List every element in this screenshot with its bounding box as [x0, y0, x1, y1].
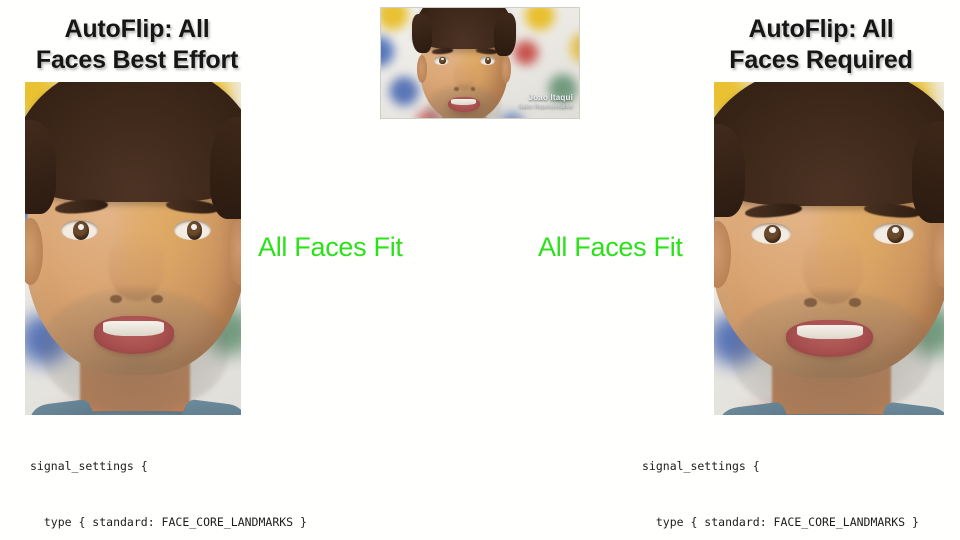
portrait-face: [714, 82, 944, 415]
mouth: [448, 97, 480, 113]
hair: [714, 82, 944, 206]
source-video-thumbnail: Joao Itaqui Sales Representative: [380, 7, 580, 119]
eye-left: [751, 223, 791, 243]
comparison-stage: AutoFlip: All Faces Best Effort: [0, 0, 960, 540]
verdict-label-best-effort: All Faces Fit: [258, 232, 403, 263]
autoflip-crop-required: [714, 82, 944, 415]
lower-third-caption: Joao Itaqui Sales Representative: [519, 93, 573, 111]
teeth: [103, 321, 164, 335]
eye-glint-left: [78, 224, 84, 231]
verdict-label-required: All Faces Fit: [538, 232, 683, 263]
eye-right: [480, 56, 495, 65]
config-block-best-effort: signal_settings { type { standard: FACE_…: [30, 420, 307, 540]
eye-glint-right: [892, 227, 899, 234]
config-line-type: type { standard: FACE_CORE_LANDMARKS }: [30, 513, 307, 532]
teeth: [451, 99, 475, 105]
hair: [414, 7, 514, 49]
config-line-type: type { standard: FACE_CORE_LANDMARKS }: [642, 513, 919, 532]
eye-left: [61, 220, 98, 240]
autoflip-crop-best-effort: [25, 82, 241, 415]
eye-left: [434, 56, 449, 65]
teeth: [797, 325, 863, 339]
portrait-face: [25, 82, 241, 415]
mouth: [94, 316, 174, 353]
portrait-face: [409, 7, 520, 119]
config-line-header: signal_settings {: [30, 457, 307, 476]
eye-right: [873, 223, 913, 243]
mouth: [786, 320, 873, 357]
ear-right: [501, 55, 511, 83]
caption-name: Joao Itaqui: [519, 93, 573, 103]
config-block-required: signal_settings { type { standard: FACE_…: [642, 420, 919, 540]
eye-glint-left: [441, 58, 444, 61]
caption-role: Sales Representative: [519, 103, 573, 111]
panel-title-required: AutoFlip: All Faces Required: [690, 14, 952, 76]
hair: [25, 82, 241, 202]
config-line-header: signal_settings {: [642, 457, 919, 476]
panel-title-best-effort: AutoFlip: All Faces Best Effort: [8, 14, 266, 76]
